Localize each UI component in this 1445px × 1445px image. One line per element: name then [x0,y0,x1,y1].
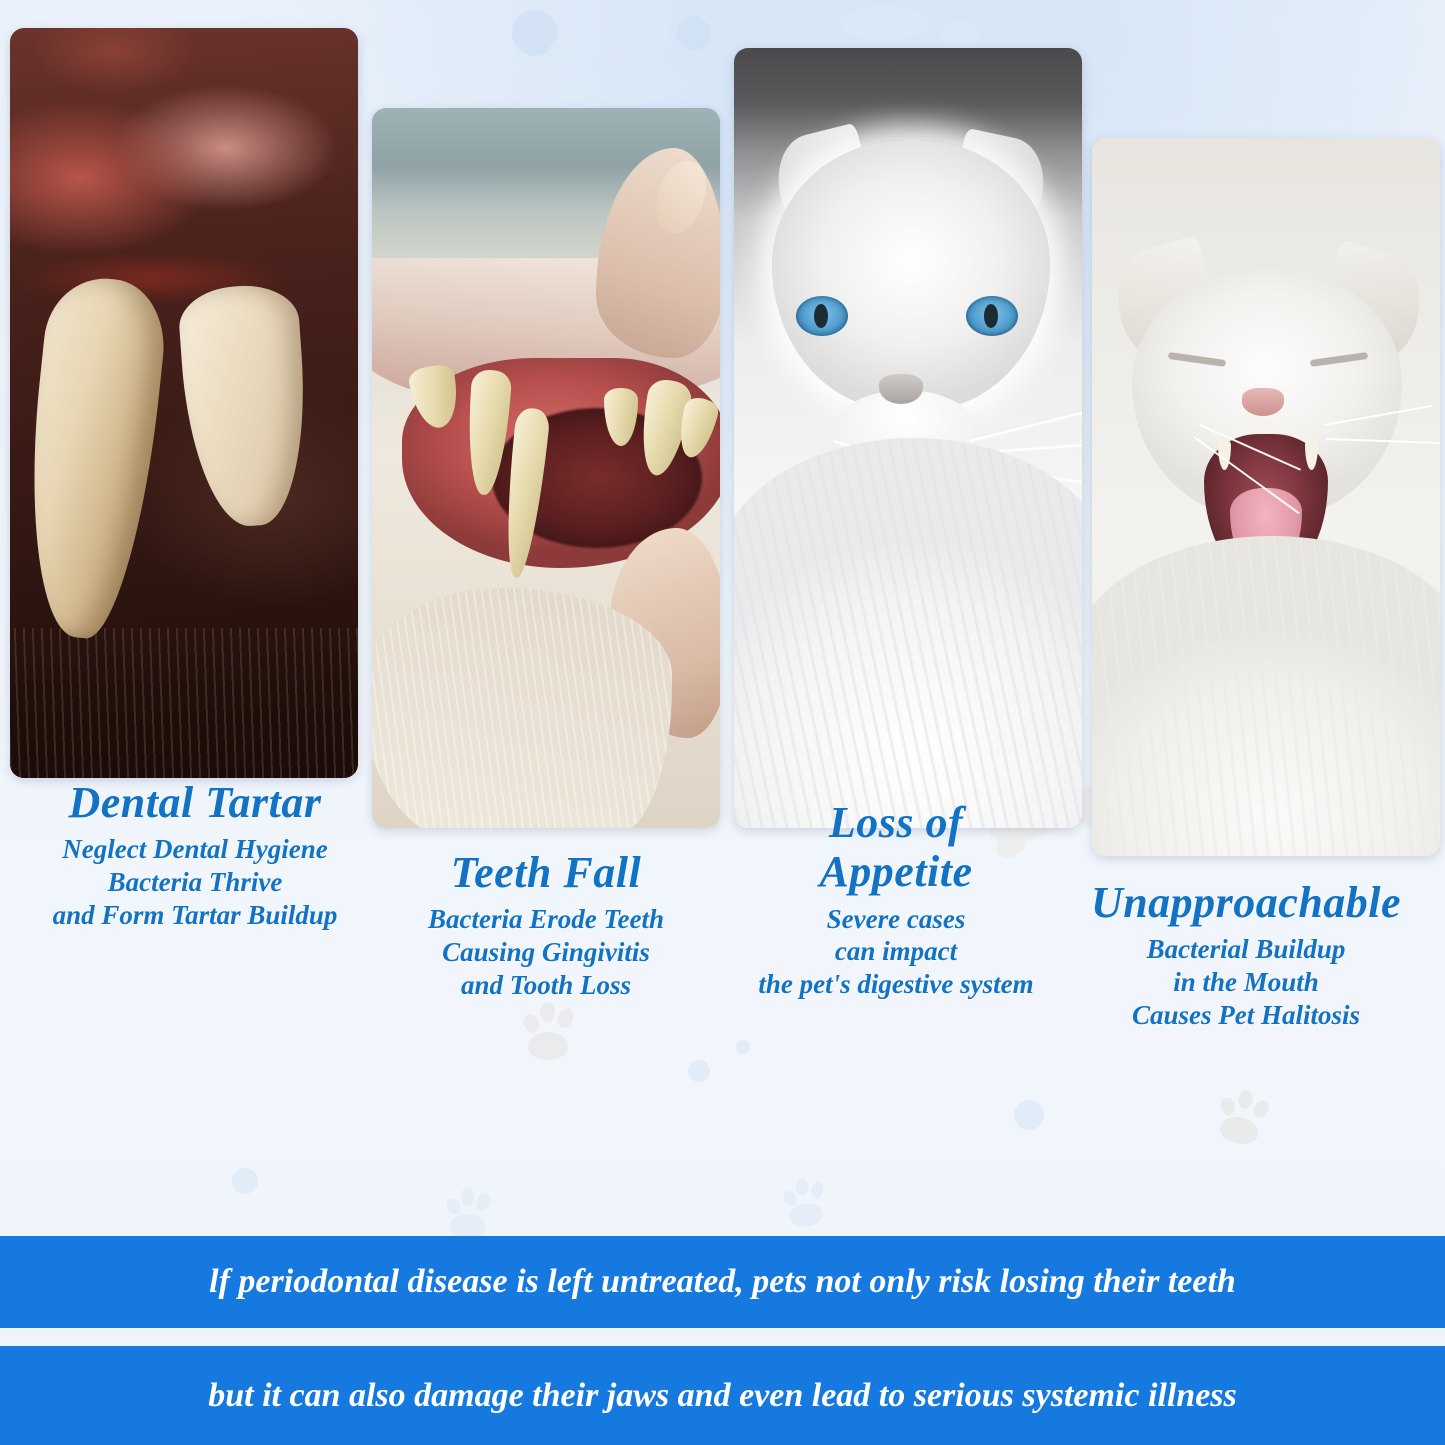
caption-subtitle: Bacteria Erode Teeth Causing Gingivitis … [372,903,720,1002]
cat-eye-left [796,296,848,336]
banner-text: lf periodontal disease is left untreated… [209,1263,1236,1301]
panel-image-loss-of-appetite [734,48,1082,828]
banner-warning-secondary: but it can also damage their jaws and ev… [0,1346,1445,1445]
photo-loss-of-appetite [734,48,1082,828]
banner-warning-primary: lf periodontal disease is left untreated… [0,1236,1445,1328]
caption-subtitle: Severe cases can impact the pet's digest… [710,903,1082,1002]
tartar-tooth-large [14,273,171,644]
decor-blob [940,22,980,48]
decor-blob [676,16,710,50]
decor-blob [1014,1100,1044,1130]
paw-print-icon [444,1186,496,1240]
caption-subtitle: Bacterial Buildup in the Mouth Causes Pe… [1046,933,1445,1032]
caption-title: Teeth Fall [372,848,720,897]
photo-teeth-fall [372,108,720,828]
decor-blob [600,8,670,56]
panel-image-unapproachable [1092,138,1440,856]
caption-unapproachable: Unapproachable Bacterial Buildup in the … [1046,878,1445,1032]
caption-loss-of-appetite: Loss of Appetite Severe cases can impact… [710,798,1082,1001]
paw-print-icon [520,1000,580,1062]
decor-blob [840,6,930,40]
panel-image-teeth-fall [372,108,720,828]
banner-text: but it can also damage their jaws and ev… [208,1377,1237,1415]
caption-subtitle: Neglect Dental Hygiene Bacteria Thrive a… [0,833,390,932]
decor-blob [736,1040,750,1054]
cat-chin-fur [372,588,672,828]
decor-blob [548,38,578,68]
panel-image-dental-tartar [10,28,358,778]
cat-nose [1242,388,1284,416]
caption-title: Loss of Appetite [710,798,1082,897]
cat-fur [10,628,358,778]
photo-unapproachable [1092,138,1440,856]
caption-teeth-fall: Teeth Fall Bacteria Erode Teeth Causing … [372,848,720,1002]
paw-print-icon [1211,1083,1278,1151]
caption-title: Unapproachable [1046,878,1445,927]
decor-blob [232,1168,258,1194]
caption-dental-tartar: Dental Tartar Neglect Dental Hygiene Bac… [0,778,390,932]
cat-head [772,140,1050,410]
cat-whisker [970,411,1082,442]
photo-dental-tartar [10,28,358,778]
tartar-tooth-small [177,282,313,530]
paw-print-icon [779,1173,836,1231]
caption-title: Dental Tartar [0,778,390,827]
cat-eye-right [966,296,1018,336]
decor-blob [688,1060,710,1082]
cat-chest-fur [734,438,1082,828]
cat-chest-fur [1092,536,1440,856]
